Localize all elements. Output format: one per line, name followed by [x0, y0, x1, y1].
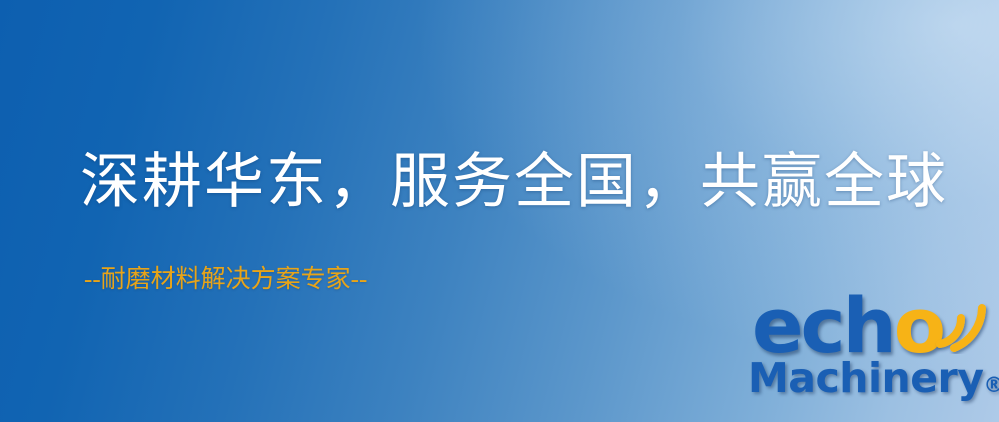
registered-trademark-icon: ®: [983, 373, 999, 397]
logo-tagline-text: Machinery: [748, 354, 983, 402]
echo-machinery-logo[interactable]: echo Machinery®: [748, 296, 998, 422]
page-title: 深耕华东，服务全国，共赢全球: [80, 152, 948, 213]
logo-wordmark: echo: [752, 288, 943, 364]
promo-banner: 深耕华东，服务全国，共赢全球 --耐磨材料解决方案专家-- echo Machi…: [0, 0, 999, 422]
page-subtitle: --耐磨材料解决方案专家--: [84, 266, 367, 294]
logo-tagline: Machinery®: [748, 358, 999, 399]
echo-wave-icon: [934, 294, 998, 354]
